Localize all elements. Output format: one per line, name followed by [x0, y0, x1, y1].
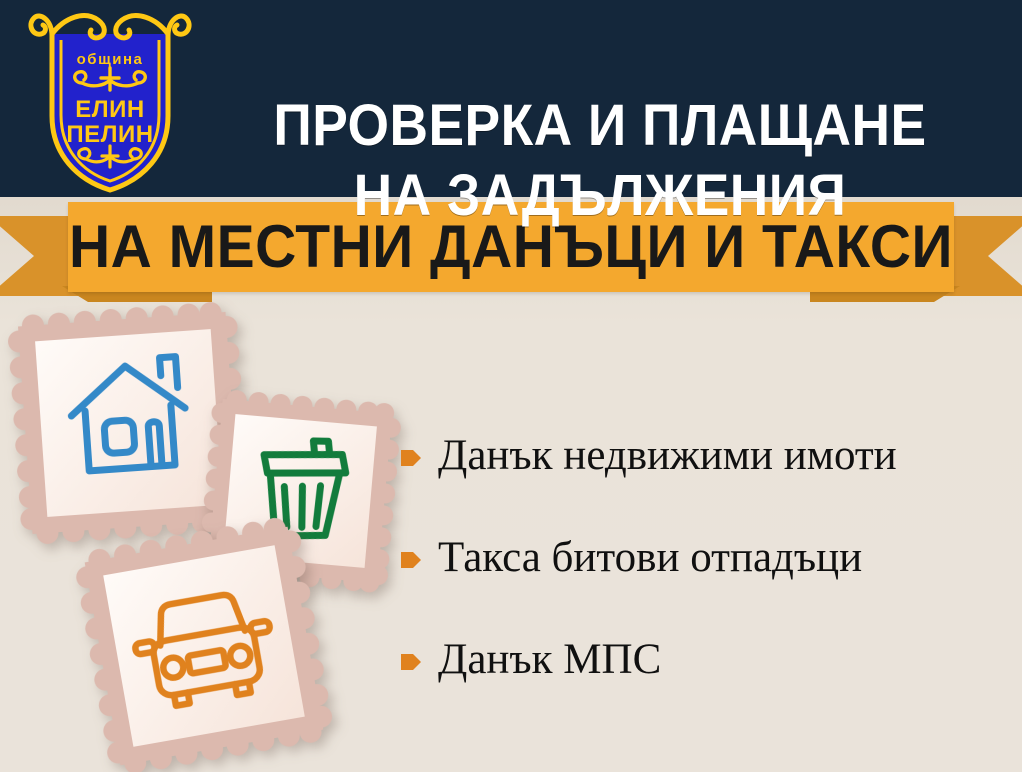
page-title-line-1: ПРОВЕРКА И ПЛАЩАНЕ — [273, 93, 926, 158]
page-title: ПРОВЕРКА И ПЛАЩАНЕ НА ЗАДЪЛЖЕНИЯ — [225, 21, 976, 301]
list-item-label: Данък недвижими имоти — [438, 433, 897, 479]
list-item: Такса битови отпадъци — [400, 532, 1014, 584]
stamp-card-group — [0, 300, 420, 772]
arrow-bullet-icon — [400, 549, 422, 571]
arrow-bullet-icon — [400, 447, 422, 469]
list-item: Данък МПС — [400, 634, 1014, 686]
logo-word-line1: ЕЛИН — [75, 96, 144, 123]
tax-type-list: Данък недвижими имоти Такса битови отпад… — [400, 430, 1014, 686]
list-item-label: Данък МПС — [438, 637, 661, 683]
arrow-bullet-icon — [400, 651, 422, 673]
list-item-label: Такса битови отпадъци — [438, 535, 862, 581]
coat-of-arms-logo: община ЕЛИН ПЕЛИН — [22, 4, 198, 194]
stamp-card-car — [72, 514, 336, 772]
logo-word-line2: ПЕЛИН — [66, 121, 153, 148]
poster-canvas: община ЕЛИН ПЕЛИН ПРОВЕРКА И П — [0, 0, 1022, 772]
page-title-line-2: НА ЗАДЪЛЖЕНИЯ — [225, 161, 976, 231]
list-item: Данък недвижими имоти — [400, 430, 1014, 482]
logo-word-top: община — [77, 51, 144, 68]
